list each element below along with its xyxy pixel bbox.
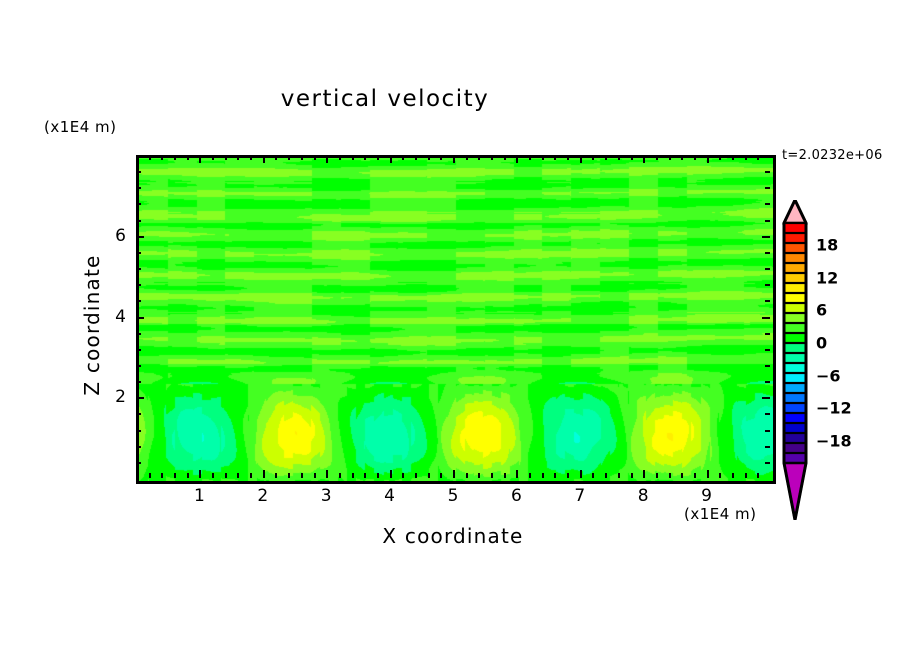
- y-axis-unit-label: (x1E4 m): [44, 118, 117, 136]
- x-tick-top: [161, 155, 163, 160]
- colorbar-band-14: [784, 363, 806, 373]
- x-tick-top: [745, 155, 747, 160]
- colorbar-tick-label--6: −6: [816, 366, 841, 385]
- y-tick-right: [762, 236, 770, 238]
- x-tick-bottom: [453, 470, 455, 478]
- colorbar-band-20: [784, 423, 806, 433]
- x-tick-bottom: [225, 473, 227, 478]
- x-tick-top: [199, 155, 201, 163]
- x-tick-top: [580, 155, 582, 163]
- x-tick-top: [504, 155, 506, 160]
- x-tick-bottom: [326, 470, 328, 478]
- x-tick-bottom: [605, 473, 607, 478]
- colorbar-band-13: [784, 353, 806, 363]
- x-tick-top: [250, 155, 252, 160]
- x-tick-label-3: 3: [321, 486, 332, 506]
- x-tick-bottom: [694, 473, 696, 478]
- y-tick-left: [136, 430, 141, 432]
- x-tick-top: [415, 155, 417, 160]
- colorbar-band-8: [784, 303, 806, 313]
- x-tick-top: [339, 155, 341, 160]
- y-tick-left: [136, 349, 141, 351]
- colorbar-tick-label-12: 12: [816, 268, 838, 287]
- x-tick-bottom: [428, 473, 430, 478]
- colorbar-band-22: [784, 443, 806, 453]
- y-tick-right: [765, 203, 770, 205]
- x-tick-top: [669, 155, 671, 160]
- colorbar-band-16: [784, 383, 806, 393]
- x-axis-unit-label: (x1E4 m): [684, 505, 757, 523]
- x-tick-label-6: 6: [511, 486, 522, 506]
- y-tick-left: [136, 300, 141, 302]
- x-tick-top: [263, 155, 265, 163]
- colorbar-band-7: [784, 293, 806, 303]
- x-tick-top: [491, 155, 493, 160]
- x-tick-top: [326, 155, 328, 163]
- colorbar-band-17: [784, 393, 806, 403]
- colorbar-band-3: [784, 253, 806, 263]
- x-tick-bottom: [504, 473, 506, 478]
- x-tick-top: [288, 155, 290, 160]
- x-tick-top: [542, 155, 544, 160]
- y-tick-left: [136, 317, 144, 319]
- x-tick-bottom: [466, 473, 468, 478]
- y-tick-right: [765, 284, 770, 286]
- y-tick-left: [136, 171, 141, 173]
- y-tick-right: [762, 317, 770, 319]
- colorbar-band-0: [784, 223, 806, 233]
- colorbar-band-12: [784, 343, 806, 353]
- x-tick-bottom: [745, 473, 747, 478]
- x-tick-top: [212, 155, 214, 160]
- x-tick-bottom: [212, 473, 214, 478]
- y-tick-right: [765, 349, 770, 351]
- x-tick-label-7: 7: [574, 486, 585, 506]
- x-tick-label-5: 5: [448, 486, 459, 506]
- y-tick-left: [136, 268, 141, 270]
- x-tick-top: [605, 155, 607, 160]
- x-tick-top: [352, 155, 354, 160]
- x-tick-bottom: [301, 473, 303, 478]
- y-tick-right: [765, 333, 770, 335]
- y-tick-right: [765, 252, 770, 254]
- x-tick-top: [466, 155, 468, 160]
- x-axis-title: X coordinate: [136, 524, 770, 548]
- y-tick-left: [136, 446, 141, 448]
- colorbar-band-2: [784, 243, 806, 253]
- x-tick-bottom: [275, 473, 277, 478]
- time-annotation: t=2.0232e+06: [782, 148, 883, 163]
- y-tick-right: [765, 220, 770, 222]
- x-tick-bottom: [339, 473, 341, 478]
- x-tick-bottom: [187, 473, 189, 478]
- x-tick-bottom: [402, 473, 404, 478]
- y-tick-right: [765, 300, 770, 302]
- plot-area: [136, 155, 776, 484]
- y-tick-right: [765, 187, 770, 189]
- y-tick-left: [136, 252, 141, 254]
- x-tick-top: [174, 155, 176, 160]
- colorbar-svg: [779, 200, 811, 520]
- x-tick-bottom: [592, 473, 594, 478]
- x-tick-top: [478, 155, 480, 160]
- y-tick-label-2: 2: [96, 387, 126, 407]
- y-tick-right: [765, 430, 770, 432]
- x-tick-bottom: [732, 473, 734, 478]
- colorbar-tick-label-18: 18: [816, 235, 838, 254]
- x-tick-bottom: [757, 473, 759, 478]
- x-tick-bottom: [631, 473, 633, 478]
- y-tick-right: [765, 365, 770, 367]
- colorbar-tick-label--18: −18: [816, 432, 852, 451]
- x-tick-top: [631, 155, 633, 160]
- x-tick-bottom: [237, 473, 239, 478]
- y-tick-label-6: 6: [96, 226, 126, 246]
- colorbar-band-6: [784, 283, 806, 293]
- x-tick-bottom: [669, 473, 671, 478]
- x-tick-top: [567, 155, 569, 160]
- x-tick-bottom: [250, 473, 252, 478]
- x-tick-top: [314, 155, 316, 160]
- x-tick-bottom: [314, 473, 316, 478]
- colorbar-tick-label--12: −12: [816, 399, 852, 418]
- x-tick-bottom: [681, 473, 683, 478]
- x-tick-bottom: [580, 470, 582, 478]
- x-tick-label-4: 4: [384, 486, 395, 506]
- x-tick-label-8: 8: [638, 486, 649, 506]
- y-tick-left: [136, 333, 141, 335]
- x-tick-label-1: 1: [194, 486, 205, 506]
- y-tick-right: [765, 462, 770, 464]
- x-tick-top: [187, 155, 189, 160]
- colorbar-band-4: [784, 263, 806, 273]
- colorbar-under-arrow: [784, 463, 806, 520]
- colorbar: [779, 200, 811, 520]
- x-tick-top: [402, 155, 404, 160]
- x-tick-top: [592, 155, 594, 160]
- x-tick-label-9: 9: [701, 486, 712, 506]
- colorbar-band-9: [784, 313, 806, 323]
- x-tick-bottom: [707, 470, 709, 478]
- colorbar-tick-label-0: 0: [816, 334, 827, 353]
- x-tick-bottom: [352, 473, 354, 478]
- colorbar-tick-label-6: 6: [816, 301, 827, 320]
- x-tick-bottom: [491, 473, 493, 478]
- y-tick-left: [136, 187, 141, 189]
- x-tick-top: [732, 155, 734, 160]
- x-tick-top: [516, 155, 518, 163]
- x-tick-bottom: [567, 473, 569, 478]
- x-tick-top: [694, 155, 696, 160]
- y-tick-label-4: 4: [96, 307, 126, 327]
- x-tick-top: [656, 155, 658, 160]
- colorbar-band-21: [784, 433, 806, 443]
- x-tick-bottom: [440, 473, 442, 478]
- x-tick-bottom: [149, 473, 151, 478]
- x-tick-bottom: [643, 470, 645, 478]
- x-tick-top: [618, 155, 620, 160]
- colorbar-band-10: [784, 323, 806, 333]
- contour-field-canvas: [139, 158, 773, 481]
- x-tick-top: [237, 155, 239, 160]
- y-tick-left: [136, 365, 141, 367]
- x-tick-top: [757, 155, 759, 160]
- x-tick-top: [643, 155, 645, 163]
- x-tick-bottom: [478, 473, 480, 478]
- x-tick-bottom: [364, 473, 366, 478]
- x-tick-top: [440, 155, 442, 160]
- x-tick-top: [377, 155, 379, 160]
- x-tick-top: [719, 155, 721, 160]
- x-tick-top: [149, 155, 151, 160]
- y-tick-left: [136, 220, 141, 222]
- y-tick-left: [136, 203, 141, 205]
- x-tick-top: [529, 155, 531, 160]
- colorbar-band-1: [784, 233, 806, 243]
- x-tick-bottom: [161, 473, 163, 478]
- x-tick-top: [707, 155, 709, 163]
- x-tick-bottom: [174, 473, 176, 478]
- y-tick-left: [136, 462, 141, 464]
- x-tick-top: [390, 155, 392, 163]
- x-tick-bottom: [719, 473, 721, 478]
- colorbar-band-19: [784, 413, 806, 423]
- x-tick-bottom: [618, 473, 620, 478]
- y-tick-right: [765, 413, 770, 415]
- x-tick-top: [453, 155, 455, 163]
- y-tick-right: [765, 171, 770, 173]
- figure-root: vertical velocity (x1E4 m) (x1E4 m) t=2.…: [0, 0, 904, 654]
- colorbar-band-15: [784, 373, 806, 383]
- x-tick-top: [225, 155, 227, 160]
- y-tick-left: [136, 397, 144, 399]
- x-tick-label-2: 2: [257, 486, 268, 506]
- x-tick-bottom: [554, 473, 556, 478]
- colorbar-band-5: [784, 273, 806, 283]
- x-tick-top: [364, 155, 366, 160]
- x-tick-bottom: [656, 473, 658, 478]
- x-tick-bottom: [288, 473, 290, 478]
- y-tick-left: [136, 236, 144, 238]
- y-tick-right: [765, 268, 770, 270]
- x-tick-bottom: [542, 473, 544, 478]
- y-tick-left: [136, 284, 141, 286]
- colorbar-band-11: [784, 333, 806, 343]
- x-tick-bottom: [199, 470, 201, 478]
- x-tick-top: [275, 155, 277, 160]
- x-tick-bottom: [263, 470, 265, 478]
- x-tick-bottom: [529, 473, 531, 478]
- x-tick-top: [301, 155, 303, 160]
- y-tick-right: [765, 446, 770, 448]
- x-tick-bottom: [377, 473, 379, 478]
- y-tick-left: [136, 413, 141, 415]
- x-tick-bottom: [390, 470, 392, 478]
- x-tick-bottom: [516, 470, 518, 478]
- y-tick-right: [765, 381, 770, 383]
- y-tick-left: [136, 381, 141, 383]
- page-title: vertical velocity: [0, 86, 770, 112]
- x-tick-top: [428, 155, 430, 160]
- x-tick-bottom: [415, 473, 417, 478]
- colorbar-band-18: [784, 403, 806, 413]
- y-tick-right: [762, 397, 770, 399]
- x-tick-top: [554, 155, 556, 160]
- x-tick-top: [681, 155, 683, 160]
